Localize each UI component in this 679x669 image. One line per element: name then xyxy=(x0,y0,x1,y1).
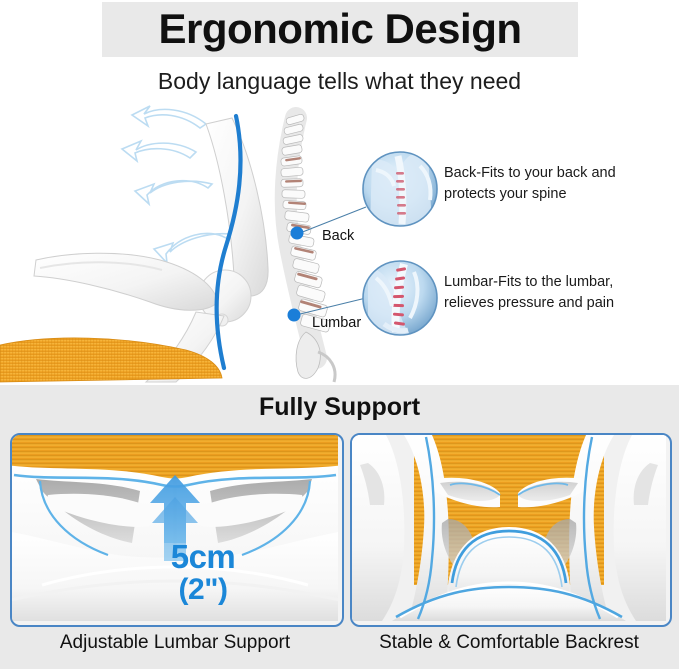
callout-text-back: Back-Fits to your back and protects your… xyxy=(444,163,664,205)
page-subtitle: Body language tells what they need xyxy=(0,68,679,95)
fully-support-heading: Fully Support xyxy=(0,393,679,422)
spine-label-back: Back xyxy=(322,228,354,244)
panel-backrest xyxy=(350,433,672,627)
callout-text-lumbar: Lumbar-Fits to the lumbar, relieves pres… xyxy=(444,272,666,314)
infographic-page: Ergonomic Design Body language tells wha… xyxy=(0,0,679,669)
spine-illustration xyxy=(281,114,335,382)
caption-backrest: Stable & Comfortable Backrest xyxy=(350,632,668,654)
measurement-value-alt: (2") xyxy=(138,575,268,605)
caption-lumbar-support: Adjustable Lumbar Support xyxy=(10,632,340,654)
page-title: Ergonomic Design xyxy=(102,0,578,58)
spine-label-lumbar: Lumbar xyxy=(312,315,361,331)
measurement-value: 5cm xyxy=(171,538,236,575)
measurement-annotation: 5cm (2") xyxy=(138,540,268,605)
back-xray-inset xyxy=(363,152,437,226)
lumbar-xray-inset xyxy=(363,261,437,336)
spine-marker-back xyxy=(291,227,304,240)
spine-marker-lumbar xyxy=(288,309,301,322)
